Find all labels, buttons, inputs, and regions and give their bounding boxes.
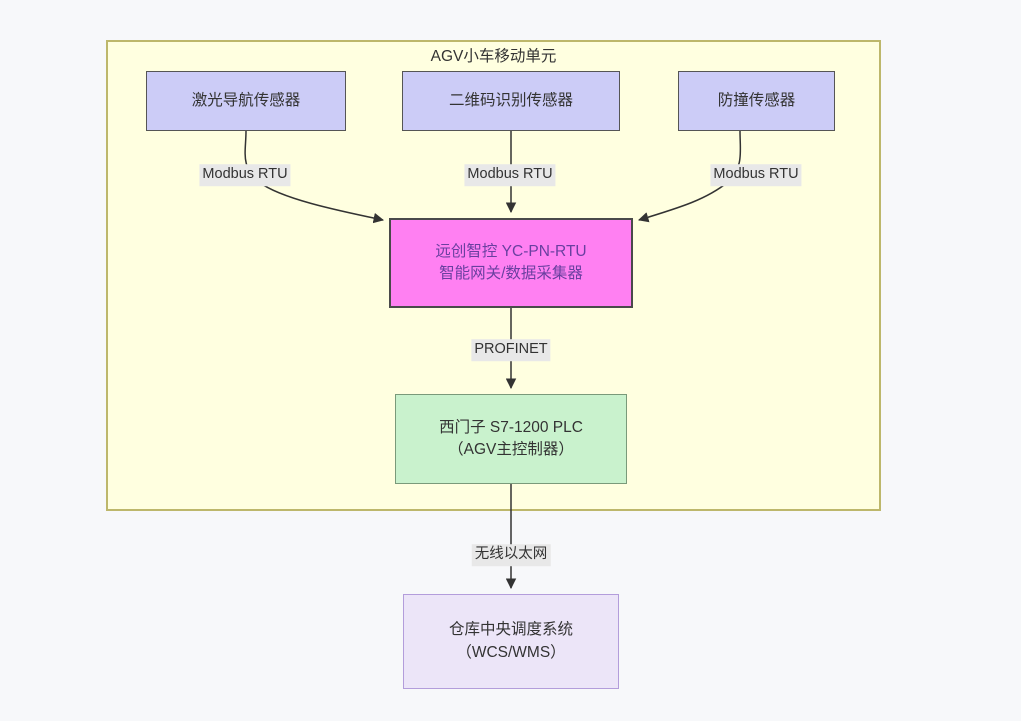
- edge-label-gateway-to-plc: PROFINET: [471, 339, 550, 361]
- cluster-title: AGV小车移动单元: [106, 44, 881, 66]
- edge-label-qr-to-gateway: Modbus RTU: [464, 164, 555, 186]
- node-yc-pn-rtu-gateway[interactable]: 远创智控 YC-PN-RTU 智能网关/数据采集器: [389, 218, 633, 308]
- node-qrcode-recognition-sensor[interactable]: 二维码识别传感器: [402, 71, 620, 131]
- node-laser-navigation-sensor[interactable]: 激光导航传感器: [146, 71, 346, 131]
- node-siemens-s7-1200-plc[interactable]: 西门子 S7-1200 PLC （AGV主控制器）: [395, 394, 627, 484]
- edge-label-collision-to-gateway: Modbus RTU: [710, 164, 801, 186]
- node-label: 防撞传感器: [718, 90, 796, 112]
- node-label: 激光导航传感器: [192, 90, 301, 112]
- node-label-line-1: 远创智控 YC-PN-RTU: [435, 241, 586, 263]
- node-label-line-2: （AGV主控制器）: [448, 439, 574, 461]
- edge-label-plc-to-wcs: 无线以太网: [472, 544, 551, 566]
- node-label: 二维码识别传感器: [449, 90, 573, 112]
- node-anticollision-sensor[interactable]: 防撞传感器: [678, 71, 835, 131]
- node-label-line-1: 仓库中央调度系统: [449, 619, 573, 641]
- node-label-line-2: （WCS/WMS）: [456, 642, 565, 664]
- node-warehouse-central-scheduling-system[interactable]: 仓库中央调度系统 （WCS/WMS）: [403, 594, 619, 689]
- node-label-line-1: 西门子 S7-1200 PLC: [439, 417, 583, 439]
- node-label-line-2: 智能网关/数据采集器: [439, 263, 583, 285]
- diagram-canvas: AGV小车移动单元 激光导航传感器 二维码识别传感器 防撞传感器 远创智控 YC…: [0, 0, 1021, 721]
- edge-label-laser-to-gateway: Modbus RTU: [199, 164, 290, 186]
